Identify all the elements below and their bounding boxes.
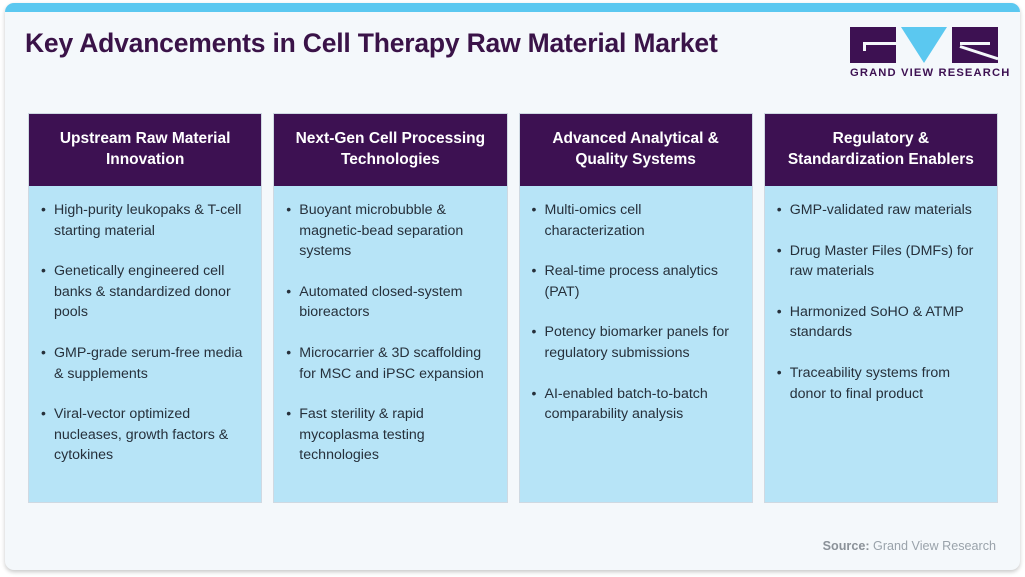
- column-upstream-raw-material-innovation: Upstream Raw Material Innovation High-pu…: [28, 113, 262, 503]
- bullet-list: Multi-omics cell characterization Real-t…: [532, 200, 740, 425]
- list-item: Genetically engineered cell banks & stan…: [41, 261, 249, 323]
- column-regulatory-standardization-enablers: Regulatory & Standardization Enablers GM…: [764, 113, 998, 503]
- infographic-card: Key Advancements in Cell Therapy Raw Mat…: [5, 3, 1020, 570]
- list-item: Multi-omics cell characterization: [532, 200, 740, 241]
- list-item: Microcarrier & 3D scaffolding for MSC an…: [286, 343, 494, 384]
- list-item: Buoyant microbubble & magnetic-bead sepa…: [286, 200, 494, 262]
- column-header: Regulatory & Standardization Enablers: [765, 114, 997, 186]
- logo-v-triangle-icon: [901, 27, 947, 63]
- list-item: Harmonized SoHO & ATMP standards: [777, 302, 985, 343]
- list-item: Traceability systems from donor to final…: [777, 363, 985, 404]
- list-item: Viral-vector optimized nucleases, growth…: [41, 404, 249, 466]
- logo-g-icon: [850, 27, 896, 63]
- list-item: GMP-validated raw materials: [777, 200, 985, 221]
- grand-view-research-logo: GRAND VIEW RESEARCH: [850, 27, 998, 89]
- list-item: Potency biomarker panels for regulatory …: [532, 322, 740, 363]
- column-body: Buoyant microbubble & magnetic-bead sepa…: [274, 186, 506, 502]
- list-item: Fast sterility & rapid mycoplasma testin…: [286, 404, 494, 466]
- source-footer: Source: Grand View Research: [823, 539, 996, 553]
- top-accent-bar: [5, 3, 1020, 12]
- page-title: Key Advancements in Cell Therapy Raw Mat…: [25, 28, 718, 59]
- column-advanced-analytical-quality-systems: Advanced Analytical & Quality Systems Mu…: [519, 113, 753, 503]
- source-label: Source:: [823, 539, 870, 553]
- logo-marks: [850, 27, 998, 63]
- column-body: High-purity leukopaks & T-cell starting …: [29, 186, 261, 502]
- bullet-list: Buoyant microbubble & magnetic-bead sepa…: [286, 200, 494, 466]
- bullet-list: High-purity leukopaks & T-cell starting …: [41, 200, 249, 466]
- list-item: Automated closed-system bioreactors: [286, 282, 494, 323]
- list-item: High-purity leukopaks & T-cell starting …: [41, 200, 249, 241]
- bullet-list: GMP-validated raw materials Drug Master …: [777, 200, 985, 404]
- column-body: Multi-omics cell characterization Real-t…: [520, 186, 752, 502]
- column-header: Next-Gen Cell Processing Technologies: [274, 114, 506, 186]
- columns-container: Upstream Raw Material Innovation High-pu…: [28, 113, 998, 503]
- column-next-gen-cell-processing-technologies: Next-Gen Cell Processing Technologies Bu…: [273, 113, 507, 503]
- column-header: Upstream Raw Material Innovation: [29, 114, 261, 186]
- column-body: GMP-validated raw materials Drug Master …: [765, 186, 997, 502]
- list-item: Real-time process analytics (PAT): [532, 261, 740, 302]
- column-header: Advanced Analytical & Quality Systems: [520, 114, 752, 186]
- header: Key Advancements in Cell Therapy Raw Mat…: [5, 12, 1020, 100]
- logo-wordmark: GRAND VIEW RESEARCH: [850, 67, 998, 79]
- logo-r-icon: [952, 27, 998, 63]
- list-item: AI-enabled batch-to-batch comparability …: [532, 384, 740, 425]
- list-item: GMP-grade serum-free media & supplements: [41, 343, 249, 384]
- list-item: Drug Master Files (DMFs) for raw materia…: [777, 241, 985, 282]
- source-value: Grand View Research: [873, 539, 996, 553]
